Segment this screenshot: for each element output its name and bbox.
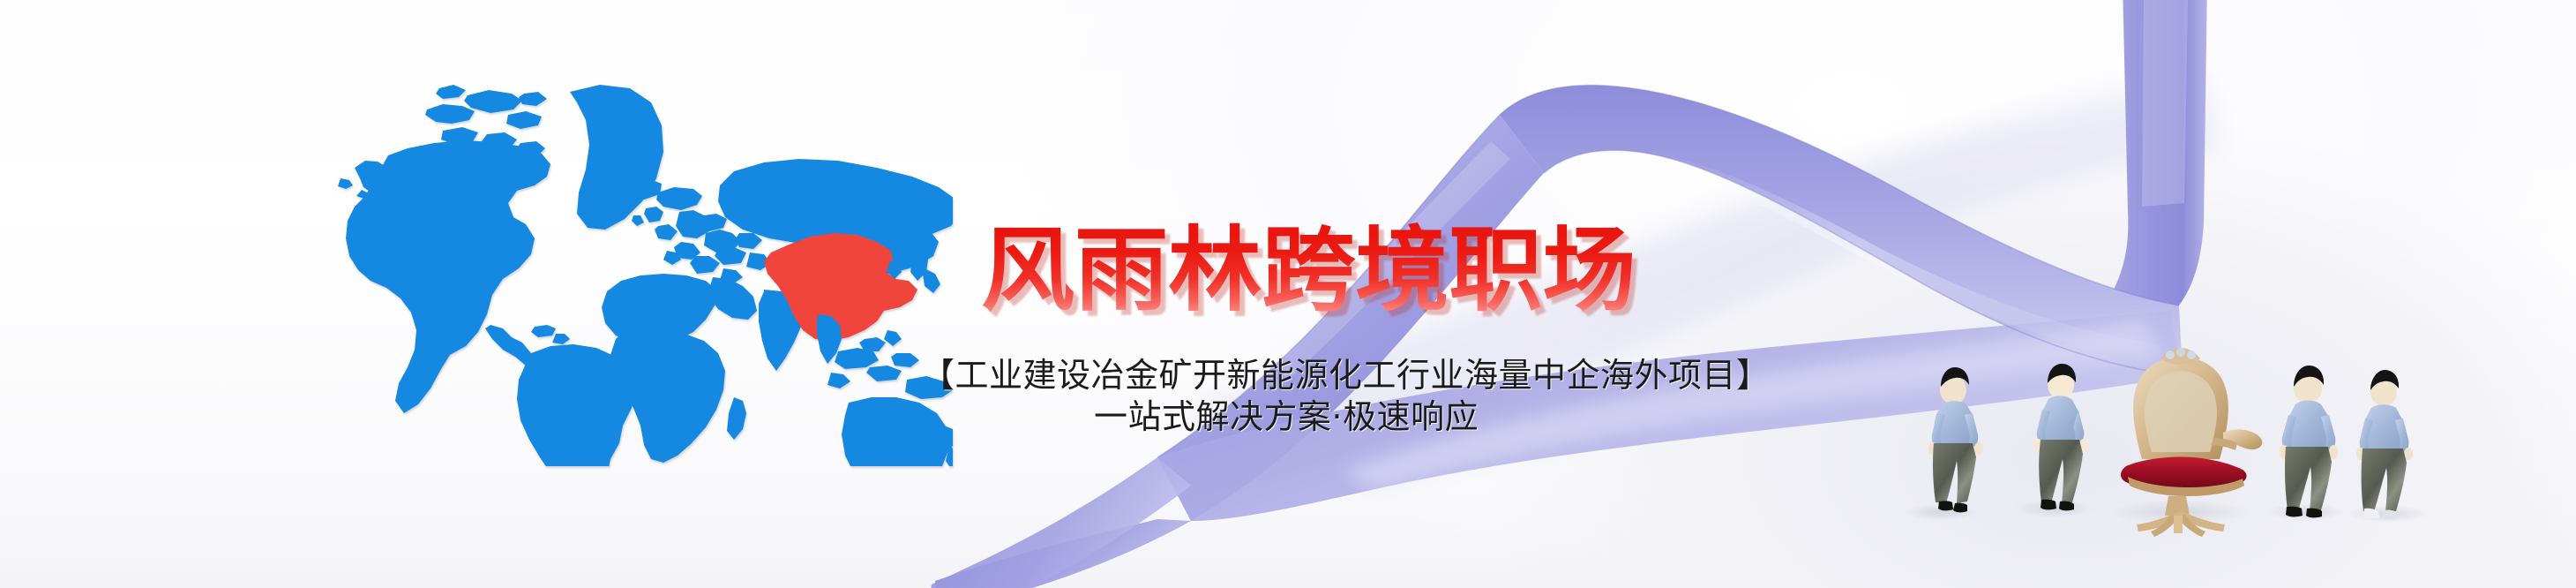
world-map-svg: [335, 69, 953, 466]
ribbon-segment-tail: [935, 519, 1191, 588]
figurine-1: [1928, 367, 1983, 512]
map-continents: [338, 85, 953, 466]
figurine-scene: [1897, 344, 2567, 588]
main-title: 风雨林跨境职场: [981, 222, 1636, 319]
figurine-2: [2033, 364, 2088, 510]
figurine-4: [2356, 370, 2413, 519]
chair-backrest-inner: [2145, 371, 2217, 452]
ribbon-segment-vertical: [2107, 0, 2207, 305]
figurine-scene-svg: [1897, 344, 2567, 588]
subtitle-line-2: 一站式解决方案·极速响应: [1094, 389, 1479, 438]
world-map: [335, 69, 953, 466]
banner-root: 风雨林跨境职场 风雨林跨境职场 【工业建设冶金矿开新能源化工行业海量中企海外项目…: [0, 0, 2576, 588]
figurine-3: [2280, 366, 2338, 517]
ribbon-segment-tail-lower: [928, 457, 1191, 588]
